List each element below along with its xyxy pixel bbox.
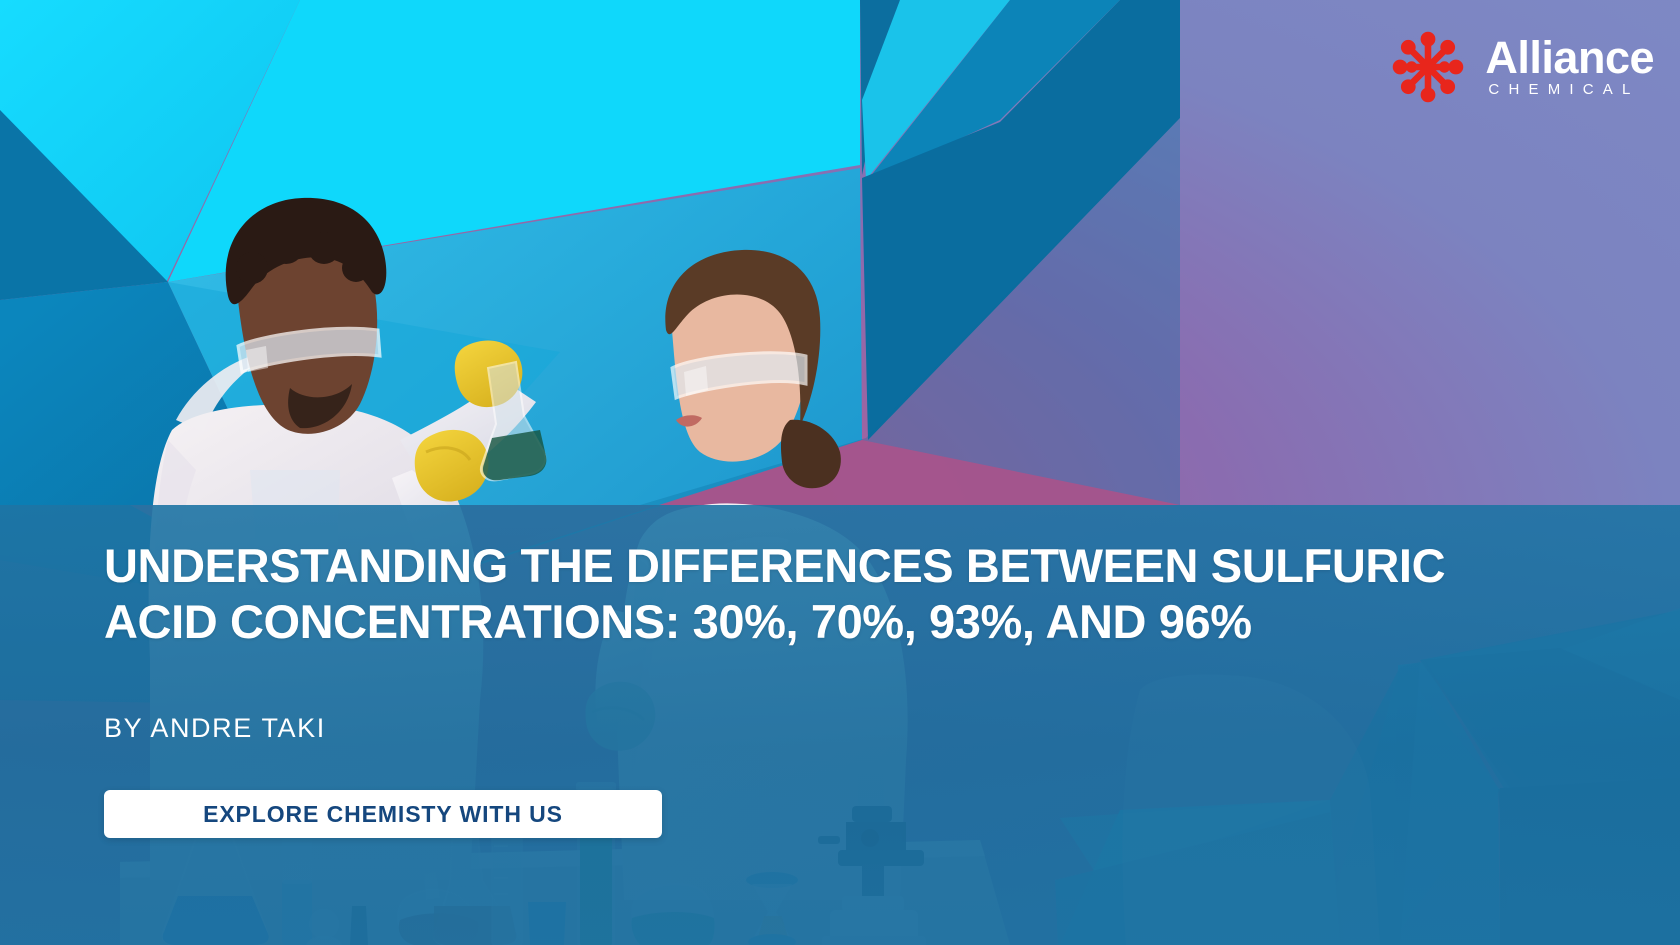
brand-wordmark: Alliance CHEMICAL bbox=[1485, 35, 1654, 99]
headline-line-1: UNDERSTANDING THE DIFFERENCES BETWEEN SU… bbox=[104, 539, 1445, 592]
molecule-starburst-icon bbox=[1387, 26, 1469, 108]
explore-chemistry-button[interactable]: EXPLORE CHEMISTY WITH US bbox=[104, 790, 662, 838]
brand-logo[interactable]: Alliance CHEMICAL bbox=[1387, 26, 1654, 108]
brand-name: Alliance bbox=[1485, 35, 1654, 81]
explore-chemistry-button-label: EXPLORE CHEMISTY WITH US bbox=[203, 801, 563, 828]
author-byline: BY ANDRE TAKI bbox=[104, 713, 326, 744]
brand-subtitle: CHEMICAL bbox=[1485, 81, 1654, 99]
headline-line-2: ACID CONCENTRATIONS: 30%, 70%, 93%, AND … bbox=[104, 594, 1564, 650]
page-title: UNDERSTANDING THE DIFFERENCES BETWEEN SU… bbox=[104, 538, 1564, 650]
hero-content: UNDERSTANDING THE DIFFERENCES BETWEEN SU… bbox=[0, 0, 1680, 945]
hero-banner: UNDERSTANDING THE DIFFERENCES BETWEEN SU… bbox=[0, 0, 1680, 945]
